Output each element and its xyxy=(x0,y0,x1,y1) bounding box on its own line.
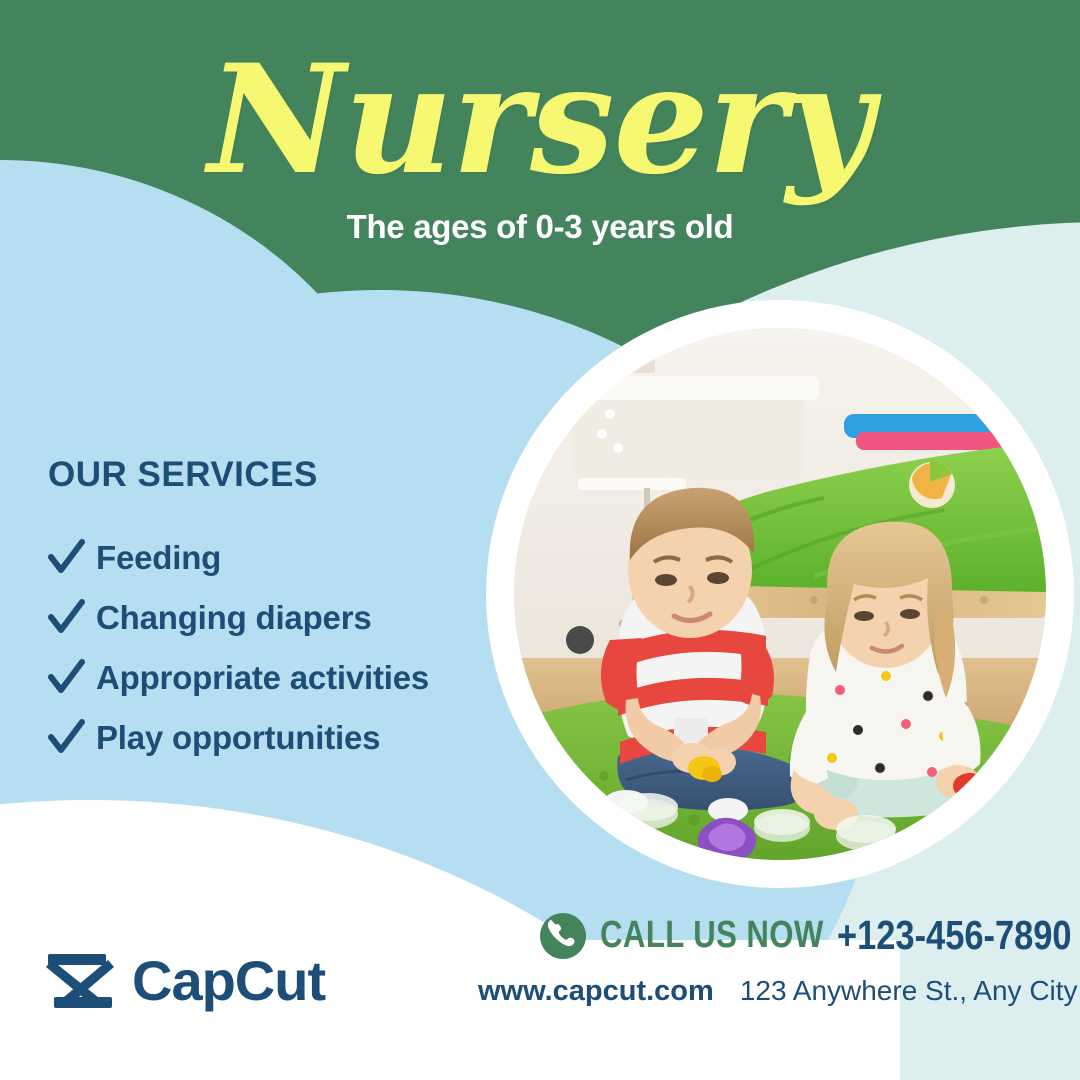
services-heading: OUR SERVICES xyxy=(48,455,318,495)
capcut-logo-icon xyxy=(46,950,114,1012)
check-icon xyxy=(44,536,88,580)
website-link[interactable]: www.capcut.com xyxy=(478,975,714,1008)
service-label: Feeding xyxy=(96,539,221,577)
call-us-label: CALL US NOW xyxy=(600,914,824,957)
service-label: Appropriate activities xyxy=(96,659,429,697)
service-label: Changing diapers xyxy=(96,599,372,637)
service-label: Play opportunities xyxy=(96,719,380,757)
phone-number[interactable]: +123-456-7890 xyxy=(837,912,1072,959)
contact-info-row: www.capcut.com 123 Anywhere St., Any Cit… xyxy=(478,975,1058,1008)
check-icon xyxy=(44,596,88,640)
address-text: 123 Anywhere St., Any City xyxy=(740,975,1078,1007)
services-list: Feeding Changing diapers Appropriate act… xyxy=(44,535,564,775)
page-subtitle: The ages of 0-3 years old xyxy=(0,208,1080,246)
capcut-logo-text: CapCut xyxy=(132,948,325,1013)
list-item: Feeding xyxy=(44,535,564,580)
list-item: Appropriate activities xyxy=(44,655,564,700)
capcut-logo: CapCut xyxy=(46,948,325,1013)
list-item: Changing diapers xyxy=(44,595,564,640)
list-item: Play opportunities xyxy=(44,715,564,760)
children-playing-photo xyxy=(514,328,1046,860)
check-icon xyxy=(44,656,88,700)
page-title: Nursery xyxy=(0,42,1080,200)
check-icon xyxy=(44,716,88,760)
call-us-row: CALL US NOW +123-456-7890 xyxy=(540,912,1080,959)
phone-icon xyxy=(540,913,586,959)
nursery-poster: Nursery The ages of 0-3 years old xyxy=(0,0,1080,1080)
